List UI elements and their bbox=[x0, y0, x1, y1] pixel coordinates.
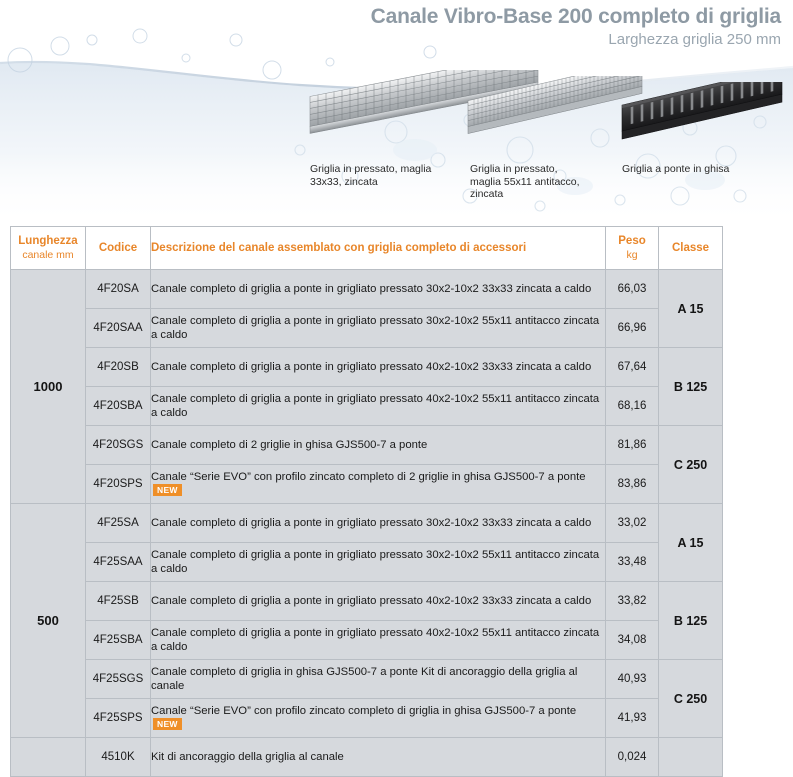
page-title: Canale Vibro-Base 200 completo di grigli… bbox=[371, 4, 781, 29]
caption-line: maglia 55x11 antitacco, bbox=[470, 176, 620, 189]
cell-peso: 33,82 bbox=[606, 582, 659, 621]
cell-peso: 66,96 bbox=[606, 309, 659, 348]
cell-codice: 4F20SB bbox=[86, 348, 151, 387]
table-row: 10004F20SACanale completo di griglia a p… bbox=[11, 270, 723, 309]
descrizione-text: Canale completo di griglia a ponte in gr… bbox=[151, 361, 591, 373]
cell-descrizione: Canale completo di griglia a ponte in gr… bbox=[151, 348, 606, 387]
product-table: Lunghezza canale mm Codice Descrizione d… bbox=[10, 226, 723, 777]
cell-classe: A 15 bbox=[659, 270, 723, 348]
cell-peso: 34,08 bbox=[606, 621, 659, 660]
caption-griglia-pressato-55x11: Griglia in pressato, maglia 55x11 antita… bbox=[470, 163, 620, 201]
cell-peso: 33,48 bbox=[606, 543, 659, 582]
badge-new: NEW bbox=[153, 484, 182, 496]
col-header-lunghezza-main: Lunghezza bbox=[18, 235, 77, 247]
table-row: 4F20SBCanale completo di griglia a ponte… bbox=[11, 348, 723, 387]
cell-descrizione: Canale “Serie EVO” con profilo zincato c… bbox=[151, 465, 606, 504]
cell-descrizione: Canale completo di griglia a ponte in gr… bbox=[151, 621, 606, 660]
cell-lunghezza: 1000 bbox=[11, 270, 86, 504]
cell-classe: C 250 bbox=[659, 660, 723, 738]
table-body: 10004F20SACanale completo di griglia a p… bbox=[11, 270, 723, 777]
table-row: 4F25SPSCanale “Serie EVO” con profilo zi… bbox=[11, 699, 723, 738]
cell-descrizione: Canale completo di griglia a ponte in gr… bbox=[151, 387, 606, 426]
col-header-classe: Classe bbox=[659, 227, 723, 270]
cell-codice: 4F25SPS bbox=[86, 699, 151, 738]
cell-descrizione: Canale completo di 2 griglie in ghisa GJ… bbox=[151, 426, 606, 465]
table-row: 4510KKit di ancoraggio della griglia al … bbox=[11, 738, 723, 777]
cell-peso: 66,03 bbox=[606, 270, 659, 309]
cell-classe: C 250 bbox=[659, 426, 723, 504]
cell-peso: 40,93 bbox=[606, 660, 659, 699]
table-row: 4F25SGSCanale completo di griglia in ghi… bbox=[11, 660, 723, 699]
cell-classe: A 15 bbox=[659, 504, 723, 582]
cell-codice: 4F25SAA bbox=[86, 543, 151, 582]
page-title-block: Canale Vibro-Base 200 completo di grigli… bbox=[371, 4, 781, 50]
descrizione-text: Kit di ancoraggio della griglia al canal… bbox=[151, 751, 344, 763]
descrizione-text: Canale completo di griglia in ghisa GJS5… bbox=[151, 666, 577, 693]
page-subtitle: Larghezza griglia 250 mm bbox=[371, 30, 781, 50]
table-row: 4F25SBACanale completo di griglia a pont… bbox=[11, 621, 723, 660]
cell-codice: 4F20SAA bbox=[86, 309, 151, 348]
cell-codice: 4F25SGS bbox=[86, 660, 151, 699]
caption-line: zincata bbox=[470, 188, 620, 201]
cell-peso: 67,64 bbox=[606, 348, 659, 387]
cell-descrizione: Canale completo di griglia in ghisa GJS5… bbox=[151, 660, 606, 699]
descrizione-text: Canale completo di griglia a ponte in gr… bbox=[151, 517, 591, 529]
cell-peso: 81,86 bbox=[606, 426, 659, 465]
cell-descrizione: Canale completo di griglia a ponte in gr… bbox=[151, 582, 606, 621]
table-row: 4F20SPSCanale “Serie EVO” con profilo zi… bbox=[11, 465, 723, 504]
cell-codice: 4F25SB bbox=[86, 582, 151, 621]
cell-peso: 83,86 bbox=[606, 465, 659, 504]
cell-descrizione: Canale completo di griglia a ponte in gr… bbox=[151, 543, 606, 582]
caption-griglia-ponte-ghisa: Griglia a ponte in ghisa bbox=[622, 163, 792, 176]
cell-classe bbox=[659, 738, 723, 777]
cell-peso: 41,93 bbox=[606, 699, 659, 738]
cell-classe: B 125 bbox=[659, 582, 723, 660]
caption-line: 33x33, zincata bbox=[310, 176, 460, 189]
table-row: 4F20SGSCanale completo di 2 griglie in g… bbox=[11, 426, 723, 465]
col-header-peso-main: Peso bbox=[618, 235, 646, 247]
col-header-descrizione: Descrizione del canale assemblato con gr… bbox=[151, 227, 606, 270]
descrizione-text: Canale completo di griglia a ponte in gr… bbox=[151, 393, 599, 420]
table-row: 4F25SAACanale completo di griglia a pont… bbox=[11, 543, 723, 582]
cell-descrizione: Kit di ancoraggio della griglia al canal… bbox=[151, 738, 606, 777]
cell-peso: 33,02 bbox=[606, 504, 659, 543]
descrizione-text: Canale completo di 2 griglie in ghisa GJ… bbox=[151, 439, 427, 451]
cell-lunghezza: 500 bbox=[11, 504, 86, 738]
col-header-peso: Peso kg bbox=[606, 227, 659, 270]
col-header-codice: Codice bbox=[86, 227, 151, 270]
descrizione-text: Canale completo di griglia a ponte in gr… bbox=[151, 315, 599, 342]
table-row: 4F20SBACanale completo di griglia a pont… bbox=[11, 387, 723, 426]
descrizione-text: Canale completo di griglia a ponte in gr… bbox=[151, 595, 591, 607]
descrizione-text: Canale completo di griglia a ponte in gr… bbox=[151, 549, 599, 576]
cell-descrizione: Canale completo di griglia a ponte in gr… bbox=[151, 309, 606, 348]
cell-codice: 4F20SA bbox=[86, 270, 151, 309]
caption-griglia-pressato-33x33: Griglia in pressato, maglia 33x33, zinca… bbox=[310, 163, 460, 188]
cell-codice: 4F25SA bbox=[86, 504, 151, 543]
cell-codice: 4F25SBA bbox=[86, 621, 151, 660]
table-header-row: Lunghezza canale mm Codice Descrizione d… bbox=[11, 227, 723, 270]
col-header-peso-sub: kg bbox=[606, 248, 658, 262]
table-row: 4F20SAACanale completo di griglia a pont… bbox=[11, 309, 723, 348]
caption-line: Griglia a ponte in ghisa bbox=[622, 163, 792, 176]
photo-griglia-ponte-ghisa bbox=[618, 82, 793, 165]
cell-peso: 68,16 bbox=[606, 387, 659, 426]
cell-codice: 4F20SGS bbox=[86, 426, 151, 465]
cell-descrizione: Canale completo di griglia a ponte in gr… bbox=[151, 504, 606, 543]
cell-codice: 4F20SBA bbox=[86, 387, 151, 426]
col-header-lunghezza: Lunghezza canale mm bbox=[11, 227, 86, 270]
cell-classe: B 125 bbox=[659, 348, 723, 426]
descrizione-text: Canale “Serie EVO” con profilo zincato c… bbox=[151, 705, 576, 717]
caption-line: Griglia in pressato, maglia bbox=[310, 163, 460, 176]
descrizione-text: Canale completo di griglia a ponte in gr… bbox=[151, 283, 591, 295]
table-header: Lunghezza canale mm Codice Descrizione d… bbox=[11, 227, 723, 270]
col-header-lunghezza-sub: canale mm bbox=[11, 248, 85, 262]
descrizione-text: Canale completo di griglia a ponte in gr… bbox=[151, 627, 599, 654]
table-row: 4F25SBCanale completo di griglia a ponte… bbox=[11, 582, 723, 621]
descrizione-text: Canale “Serie EVO” con profilo zincato c… bbox=[151, 471, 586, 483]
badge-new: NEW bbox=[153, 718, 182, 730]
table-row: 5004F25SACanale completo di griglia a po… bbox=[11, 504, 723, 543]
cell-peso: 0,024 bbox=[606, 738, 659, 777]
cell-codice: 4F20SPS bbox=[86, 465, 151, 504]
caption-line: Griglia in pressato, bbox=[470, 163, 620, 176]
cell-codice: 4510K bbox=[86, 738, 151, 777]
cell-lunghezza bbox=[11, 738, 86, 777]
cell-descrizione: Canale completo di griglia a ponte in gr… bbox=[151, 270, 606, 309]
cell-descrizione: Canale “Serie EVO” con profilo zincato c… bbox=[151, 699, 606, 738]
